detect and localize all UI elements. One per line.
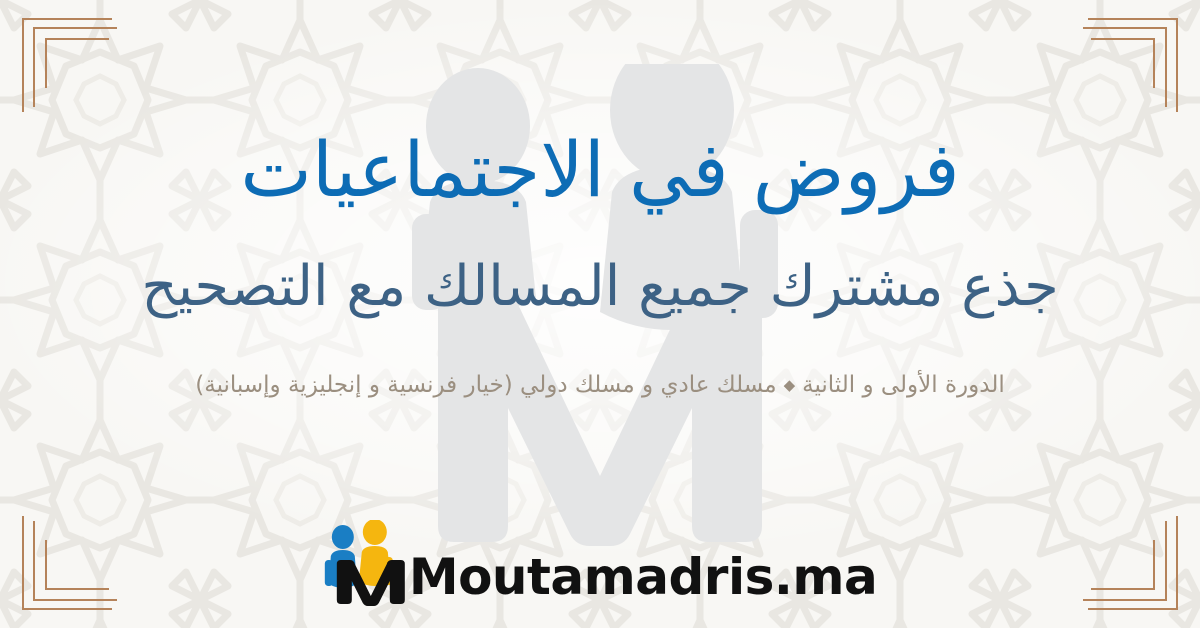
meta-left-segment: الدورة الأولى و الثانية	[802, 372, 1005, 398]
page-title: فروض في الاجتماعيات	[240, 0, 959, 210]
poster-canvas: فروض في الاجتماعيات جذع مشترك جميع المسا…	[0, 0, 1200, 628]
page-subtitle: جذع مشترك جميع المسالك مع التصحيح	[141, 210, 1058, 318]
brand-lockup[interactable]: Moutamadris.ma	[323, 520, 877, 606]
meta-line: الدورة الأولى و الثانية◆مسلك عادي و مسلك…	[195, 317, 1004, 401]
moutamadris-m-logo-icon	[323, 520, 419, 606]
meta-right-segment: مسلك عادي و مسلك دولي (خيار فرنسية و إنج…	[195, 372, 776, 398]
meta-separator-icon: ◆	[777, 376, 803, 396]
brand-name: Moutamadris.ma	[409, 552, 877, 606]
